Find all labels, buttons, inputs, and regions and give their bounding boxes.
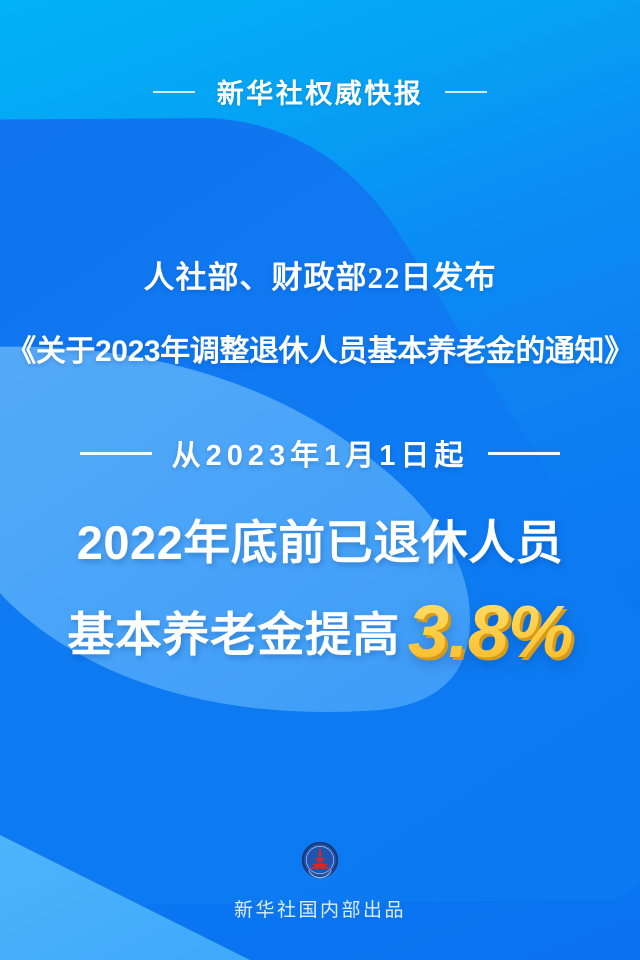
footer: 新华社国内部出品: [0, 841, 640, 922]
xinhua-agency-emblem-icon: [301, 841, 339, 879]
footer-credit: 新华社国内部出品: [234, 895, 406, 922]
effective-date-row: 从2023年1月1日起: [0, 432, 640, 474]
document-title-line: 《关于2023年调整退休人员基本养老金的通知》: [0, 326, 640, 370]
header-rule-right: [445, 91, 487, 93]
effective-date-text: 从2023年1月1日起: [172, 432, 469, 474]
headline-line-1: 2022年底前已退休人员: [0, 504, 640, 573]
effective-rule-right: [488, 452, 560, 455]
headline-line-2-label: 基本养老金提高: [67, 596, 400, 665]
effective-rule-left: [80, 452, 152, 455]
issuer-line: 人社部、财政部22日发布: [0, 252, 640, 297]
headline-line-2: 基本养老金提高 3.8%: [0, 583, 640, 668]
header-rule-left: [153, 91, 195, 93]
pension-increase-value: 3.8%: [408, 589, 573, 674]
background-decoration: [0, 0, 640, 960]
header-title: 新华社权威快报: [217, 72, 424, 111]
poster-canvas: 新华社权威快报 人社部、财政部22日发布 《关于2023年调整退休人员基本养老金…: [0, 0, 640, 960]
header-banner: 新华社权威快报: [0, 72, 640, 111]
